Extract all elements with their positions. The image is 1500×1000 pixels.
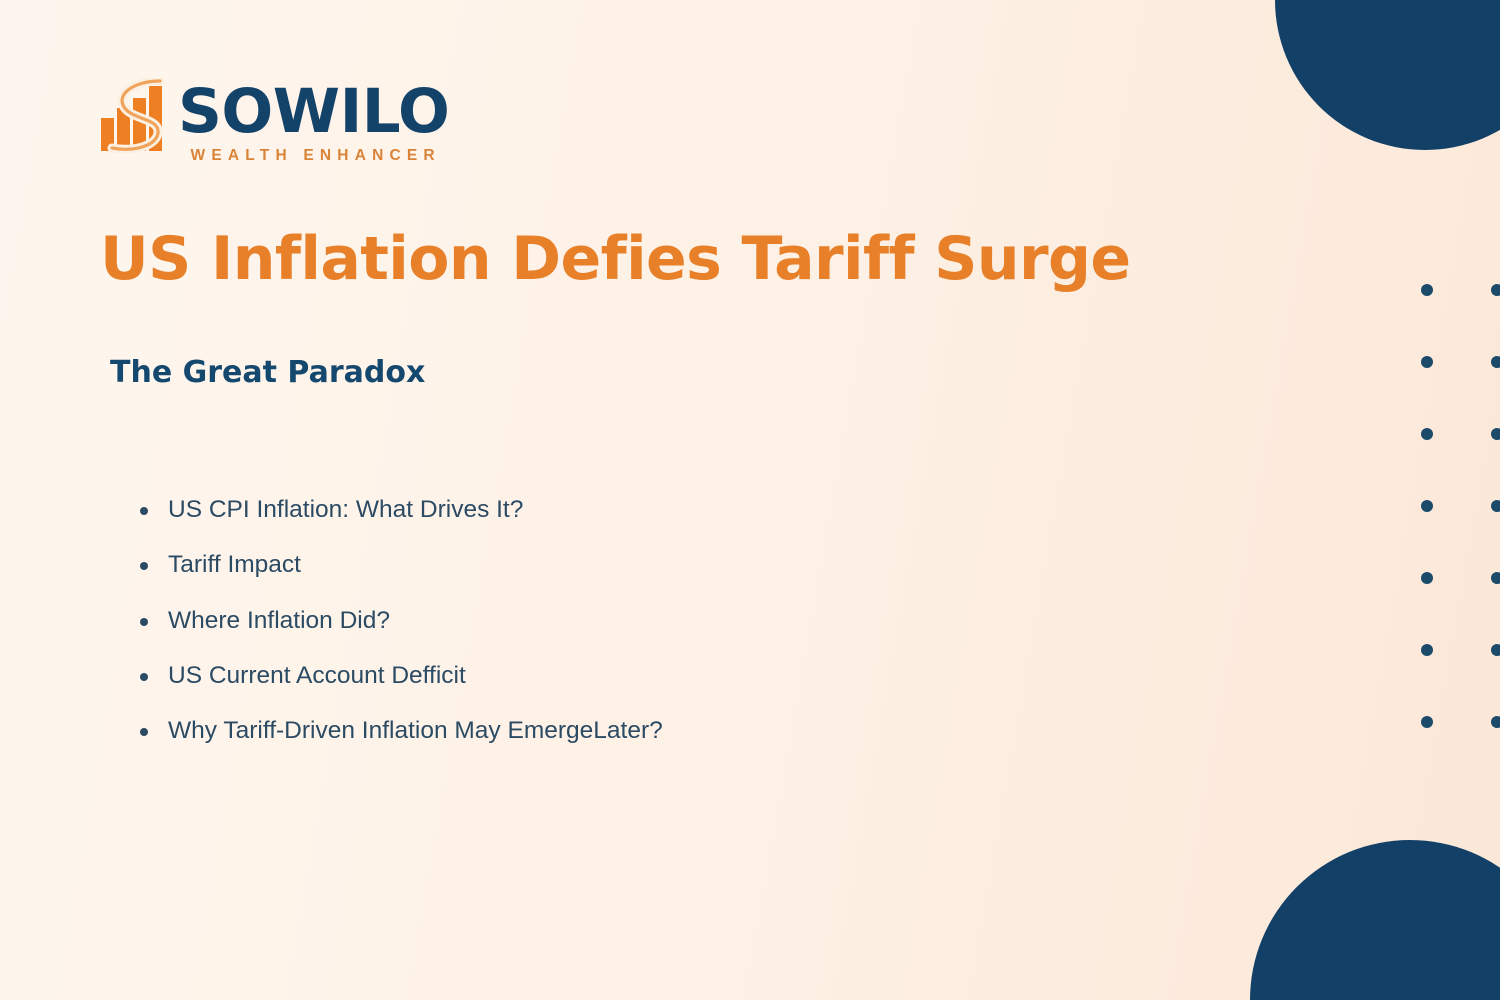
decorative-dot xyxy=(1491,428,1500,440)
agenda-item: US Current Account Defficit xyxy=(132,660,663,692)
decorative-dot xyxy=(1421,500,1433,512)
decorative-dot xyxy=(1421,284,1433,296)
brand-tagline: WEALTH ENHANCER xyxy=(178,147,449,165)
top-right-circle-decoration xyxy=(1275,0,1500,150)
presentation-slide: SOWILO WEALTH ENHANCER US Inflation Defi… xyxy=(0,0,1500,1000)
bottom-right-circle-decoration xyxy=(1250,840,1500,1000)
agenda-item-label: US CPI Inflation: What Drives It? xyxy=(168,496,523,523)
decorative-dot xyxy=(1491,284,1500,296)
agenda-item: Tariff Impact xyxy=(132,549,663,581)
decorative-dot xyxy=(1491,356,1500,368)
decorative-dot xyxy=(1491,572,1500,584)
agenda-item: Where Inflation Did? xyxy=(132,605,663,637)
agenda-item-label: Tariff Impact xyxy=(168,551,301,578)
decorative-dot xyxy=(1491,644,1500,656)
agenda-item-label: Why Tariff-Driven Inflation May EmergeLa… xyxy=(168,717,663,744)
dot-grid-decoration xyxy=(1421,284,1500,744)
agenda-item-label: US Current Account Defficit xyxy=(168,662,466,689)
agenda-item: US CPI Inflation: What Drives It? xyxy=(132,494,663,526)
agenda-item: Why Tariff-Driven Inflation May EmergeLa… xyxy=(132,715,663,747)
agenda-item-label: Where Inflation Did? xyxy=(168,607,390,634)
sowilo-bar-chart-swoosh-logo-icon xyxy=(98,78,176,158)
brand-wordmark: SOWILO xyxy=(178,82,449,142)
decorative-dot xyxy=(1421,356,1433,368)
decorative-dot xyxy=(1491,500,1500,512)
decorative-dot xyxy=(1421,428,1433,440)
decorative-dot xyxy=(1421,644,1433,656)
decorative-dot xyxy=(1421,572,1433,584)
brand-logo: SOWILO WEALTH ENHANCER xyxy=(98,78,449,165)
slide-subheadline: The Great Paradox xyxy=(110,355,425,390)
agenda-list: US CPI Inflation: What Drives It?Tariff … xyxy=(132,494,663,771)
decorative-dot xyxy=(1421,716,1433,728)
decorative-dot xyxy=(1491,716,1500,728)
slide-headline: US Inflation Defies Tariff Surge xyxy=(100,228,1130,291)
